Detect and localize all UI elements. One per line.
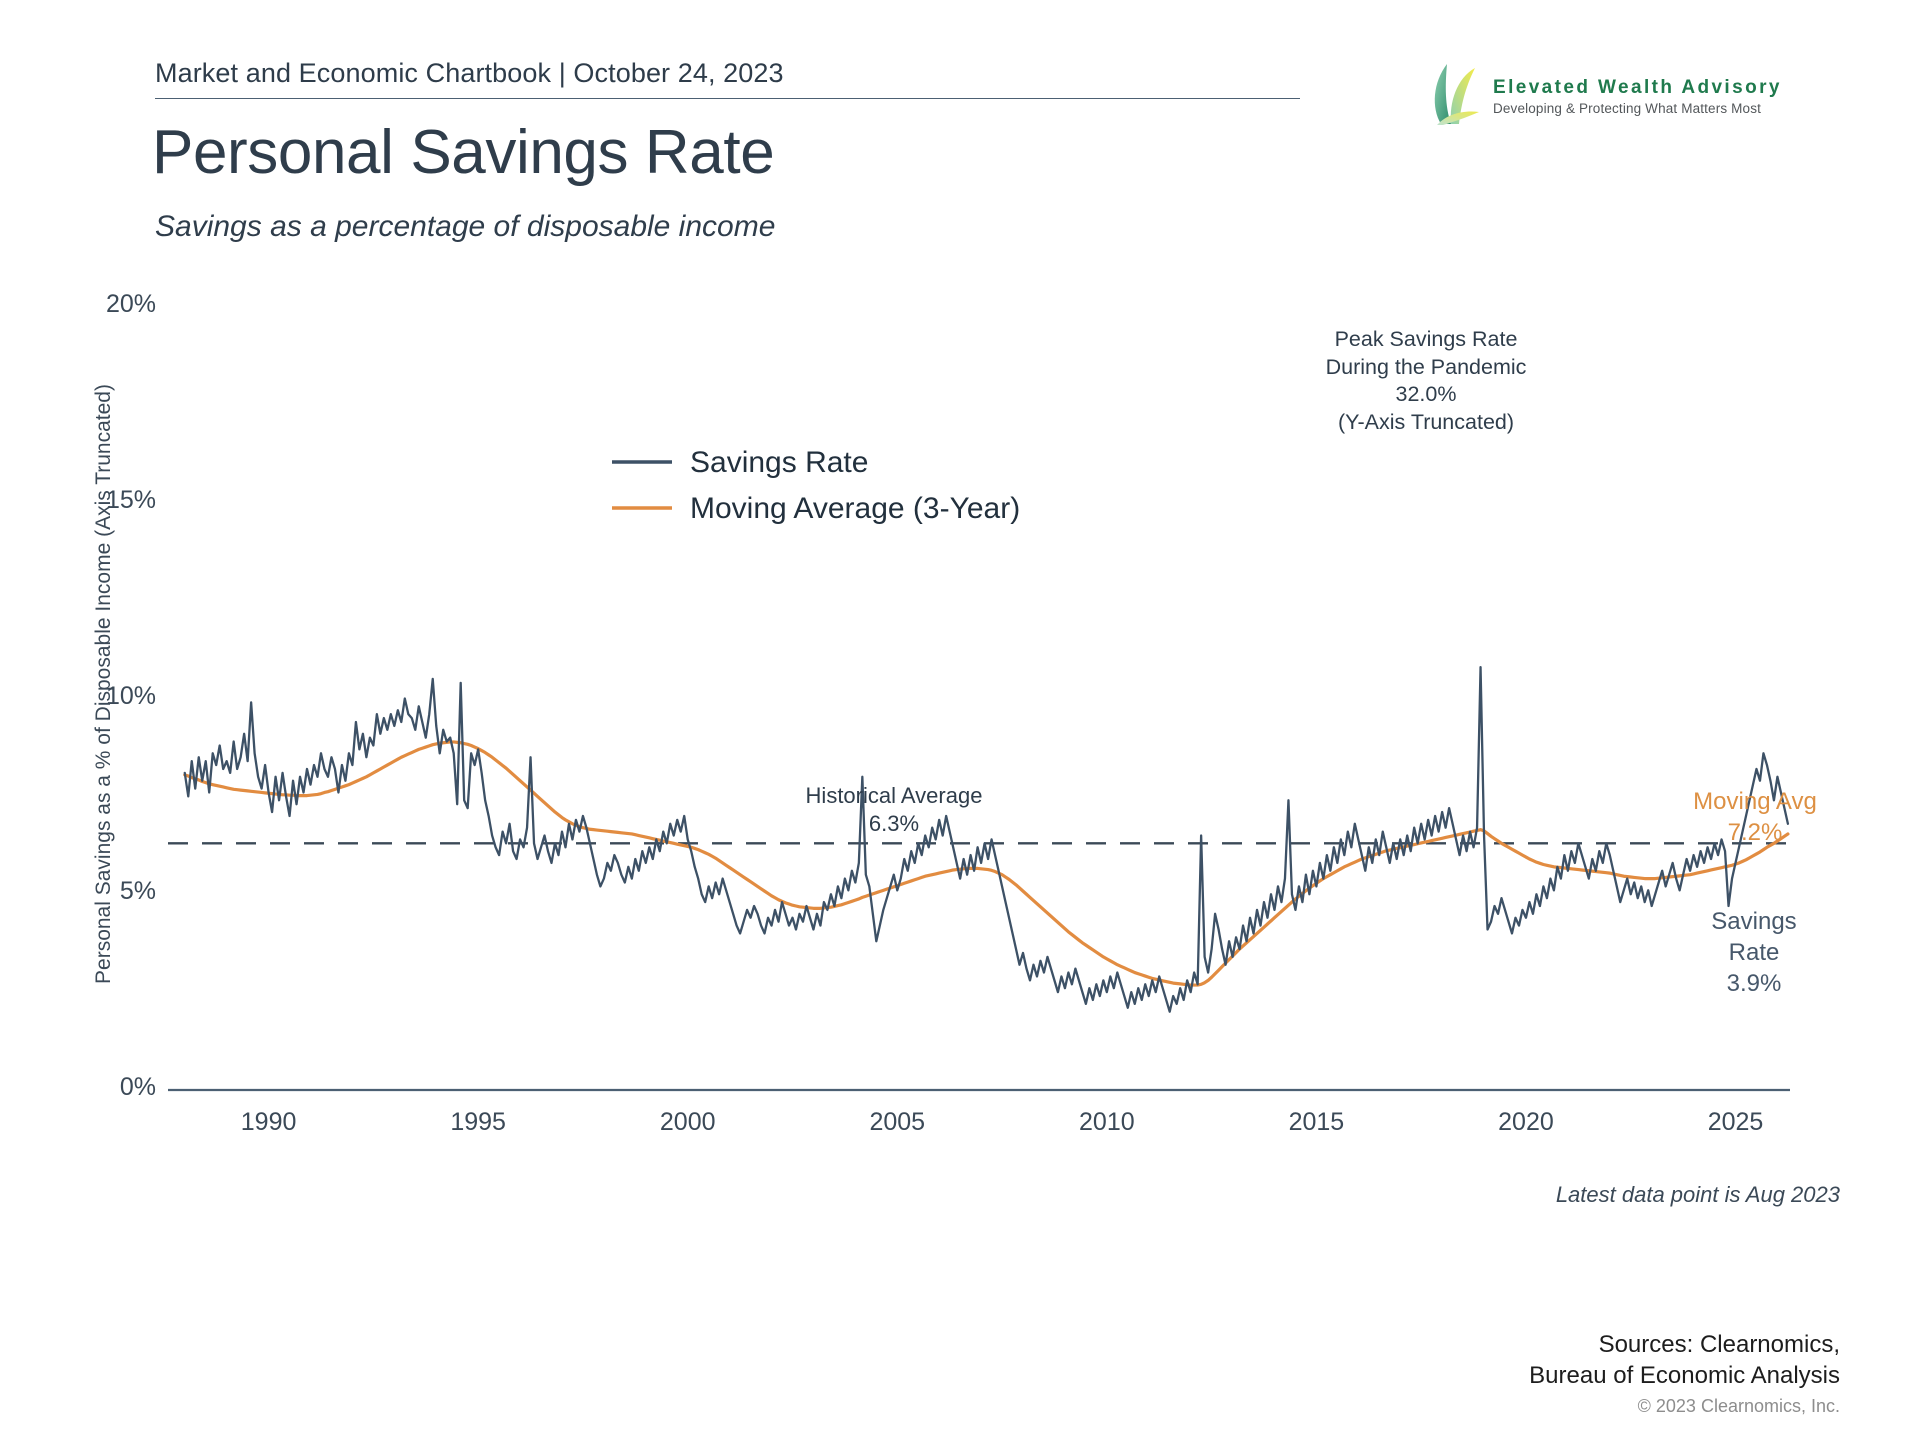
y-tick-0: 0%: [66, 1073, 156, 1102]
x-tick-1990: 1990: [199, 1108, 339, 1137]
moving-average-line: [185, 742, 1788, 985]
legend-label-savings-rate: Savings Rate: [690, 446, 868, 479]
page-title: Personal Savings Rate: [152, 120, 774, 185]
chartbook-kicker: Market and Economic Chartbook | October …: [155, 58, 1300, 89]
logo-company-name: Elevated Wealth Advisory: [1493, 77, 1782, 99]
savings-rate-line: [185, 667, 1788, 1012]
header-divider: [155, 98, 1300, 99]
header-bar: Market and Economic Chartbook | October …: [155, 58, 1300, 99]
brand-logo: Elevated Wealth Advisory Developing & Pr…: [1425, 62, 1782, 131]
annotation-historical-average: Historical Average 6.3%: [782, 782, 1006, 838]
annotation-pandemic-peak: Peak Savings Rate During the Pandemic 32…: [1306, 326, 1546, 436]
logo-tagline: Developing & Protecting What Matters Mos…: [1493, 101, 1782, 117]
y-tick-5: 5%: [66, 877, 156, 906]
x-tick-2025: 2025: [1666, 1108, 1806, 1137]
page-subtitle: Savings as a percentage of disposable in…: [155, 210, 775, 244]
x-tick-2010: 2010: [1037, 1108, 1177, 1137]
end-label-moving-average: Moving Avg 7.2%: [1680, 786, 1830, 848]
x-tick-2005: 2005: [827, 1108, 967, 1137]
chart-legend: Savings Rate Moving Average (3-Year): [612, 446, 1020, 525]
sources-text: Sources: Clearnomics, Bureau of Economic…: [1200, 1330, 1840, 1391]
y-tick-20: 20%: [66, 290, 156, 319]
x-tick-1995: 1995: [408, 1108, 548, 1137]
logo-text: Elevated Wealth Advisory Developing & Pr…: [1493, 77, 1782, 116]
x-tick-2015: 2015: [1246, 1108, 1386, 1137]
x-tick-2020: 2020: [1456, 1108, 1596, 1137]
copyright-text: © 2023 Clearnomics, Inc.: [1200, 1396, 1840, 1417]
y-tick-15: 15%: [66, 486, 156, 515]
legend-label-moving-average: Moving Average (3-Year): [690, 492, 1020, 525]
leaf-logo-icon: [1425, 62, 1483, 131]
x-tick-2000: 2000: [618, 1108, 758, 1137]
y-tick-10: 10%: [66, 682, 156, 711]
latest-data-note: Latest data point is Aug 2023: [1510, 1182, 1840, 1208]
end-label-savings-rate: Savings Rate 3.9%: [1684, 906, 1824, 1000]
